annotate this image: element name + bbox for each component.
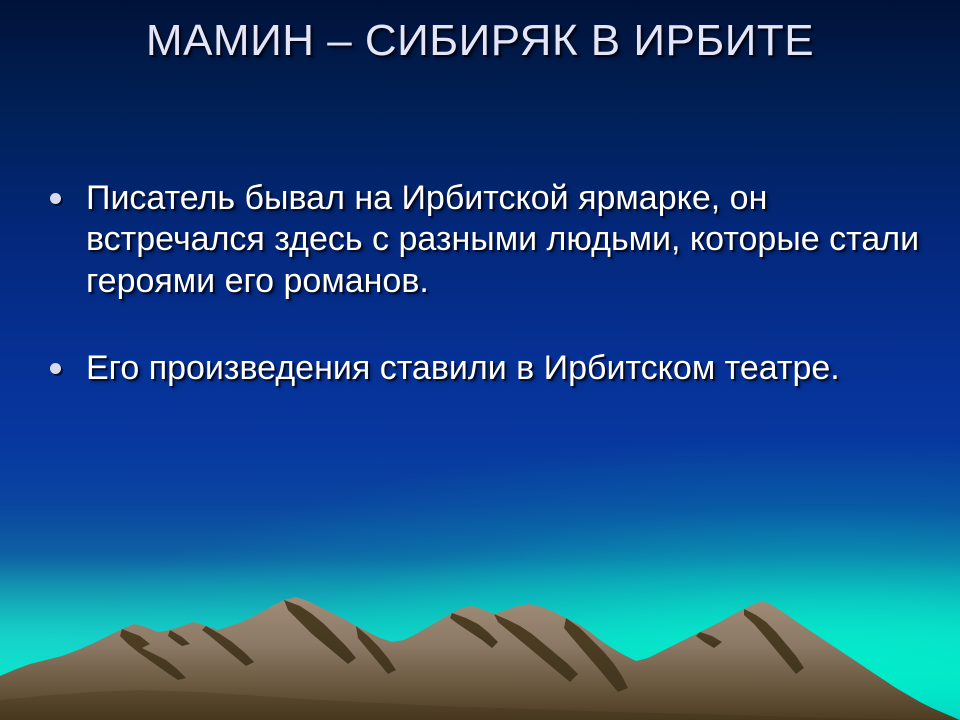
list-item: Писатель бывал на Ирбитской ярмарке, он … (38, 178, 928, 302)
list-item-text: Писатель бывал на Ирбитской ярмарке, он … (86, 178, 928, 302)
title-container: МАМИН – СИБИРЯК В ИРБИТЕ (0, 18, 960, 65)
list-item: Его произведения ставили в Ирбитском теа… (38, 348, 928, 389)
list-item-text: Его произведения ставили в Ирбитском теа… (86, 348, 928, 389)
presentation-slide: МАМИН – СИБИРЯК В ИРБИТЕ Писатель бывал … (0, 0, 960, 720)
bullet-list: Писатель бывал на Ирбитской ярмарке, он … (38, 178, 928, 389)
round-bullet-icon (50, 193, 61, 204)
round-bullet-icon (50, 363, 61, 374)
mountain-silhouette-graphic (0, 560, 960, 720)
page-title: МАМИН – СИБИРЯК В ИРБИТЕ (146, 18, 814, 65)
